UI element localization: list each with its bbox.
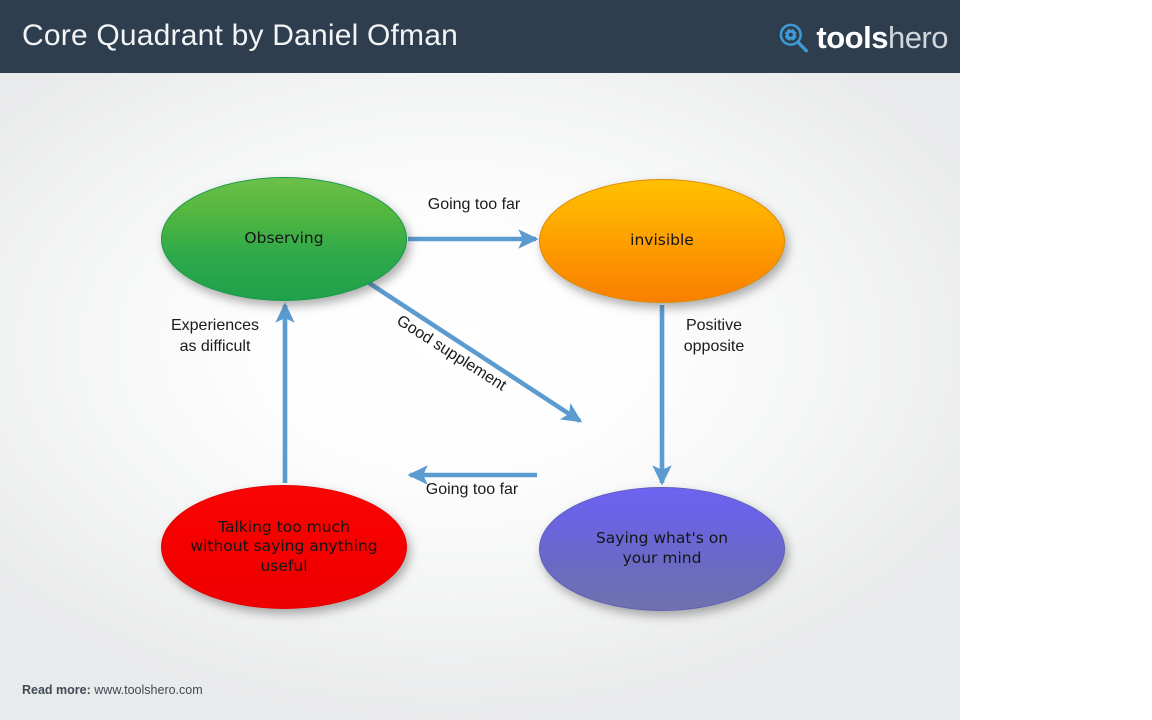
node-pitfall[interactable]: invisible [539, 179, 785, 303]
toolshero-logo: toolshero [778, 15, 948, 59]
footer-read-more: Read more: www.toolshero.com [22, 683, 203, 697]
footer-prefix: Read more: [22, 683, 91, 697]
node-allergy[interactable]: Talking too much without saying anything… [161, 485, 407, 609]
logo-text-light: hero [888, 20, 948, 55]
node-label: Observing [226, 229, 341, 249]
logo-text-bold: tools [816, 20, 888, 55]
edge-label-bottom: Going too far [402, 479, 542, 500]
slide-header: Core Quadrant by Daniel Ofman [0, 0, 960, 73]
node-core-quality[interactable]: Observing [161, 177, 407, 301]
core-quadrant-diagram: Observing invisible Talking too much wit… [0, 73, 960, 720]
node-label: Saying what's on your mind [578, 529, 746, 568]
footer-url[interactable]: www.toolshero.com [94, 683, 202, 697]
connector-diagonal [369, 283, 580, 421]
edge-label-left: Experiences as difficult [140, 315, 290, 357]
node-label: invisible [612, 231, 712, 251]
edge-label-right: Positive opposite [655, 315, 773, 357]
diagram-connectors [0, 73, 960, 720]
magnifier-gear-icon [778, 22, 809, 53]
edge-label-top: Going too far [408, 194, 540, 215]
node-challenge[interactable]: Saying what's on your mind [539, 487, 785, 611]
slide-canvas: Core Quadrant by Daniel Ofman [0, 0, 960, 720]
logo-wordmark: toolshero [816, 22, 948, 53]
node-label: Talking too much without saying anything… [172, 518, 395, 577]
page-title: Core Quadrant by Daniel Ofman [22, 19, 458, 53]
